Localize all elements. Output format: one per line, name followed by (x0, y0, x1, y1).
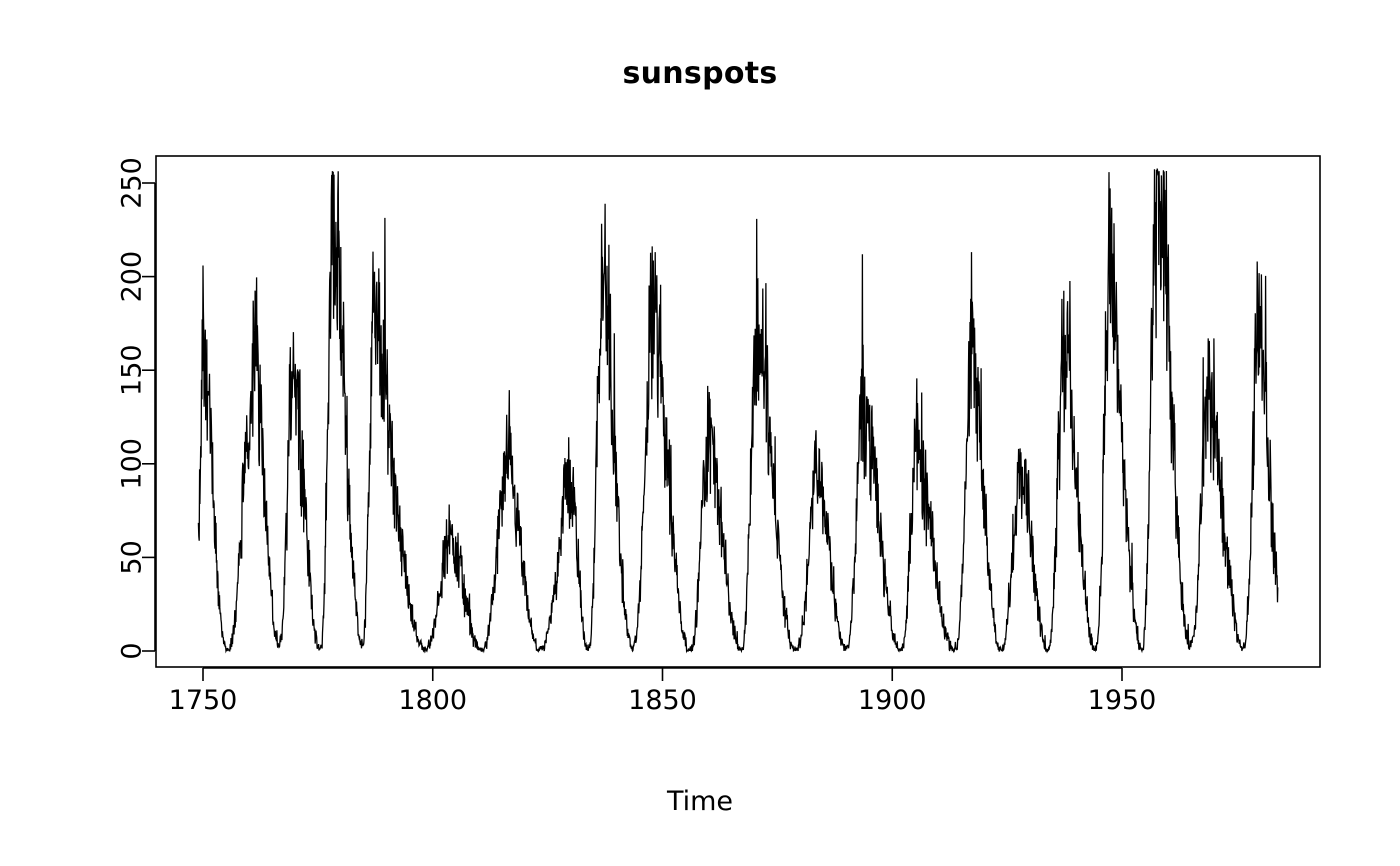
data-layer (198, 169, 1277, 651)
sunspots-series-line (198, 169, 1277, 651)
y-axis-tick-label: 150 (117, 344, 148, 396)
y-axis-tick-label: 200 (117, 251, 148, 303)
x-axis-tick-label: 1950 (1088, 685, 1157, 716)
y-axis-tick-label: 50 (117, 540, 148, 574)
y-axis-tick-label: 250 (117, 157, 148, 209)
y-axis-tick-label: 100 (117, 438, 148, 490)
x-axis-tick-label: 1850 (628, 685, 697, 716)
x-axis-tick-label: 1800 (398, 685, 467, 716)
chart-canvas: 050100150200250 17501800185019001950 (0, 0, 1400, 866)
y-axis-tick-label: 0 (117, 642, 148, 659)
x-axis-tick-label: 1750 (169, 685, 238, 716)
y-axis: 050100150200250 (117, 157, 156, 659)
x-axis-title: Time (0, 786, 1400, 817)
x-axis: 17501800185019001950 (169, 668, 1157, 716)
plot-root: sunspots 050100150200250 175018001850190… (0, 0, 1400, 866)
x-axis-tick-label: 1900 (858, 685, 927, 716)
